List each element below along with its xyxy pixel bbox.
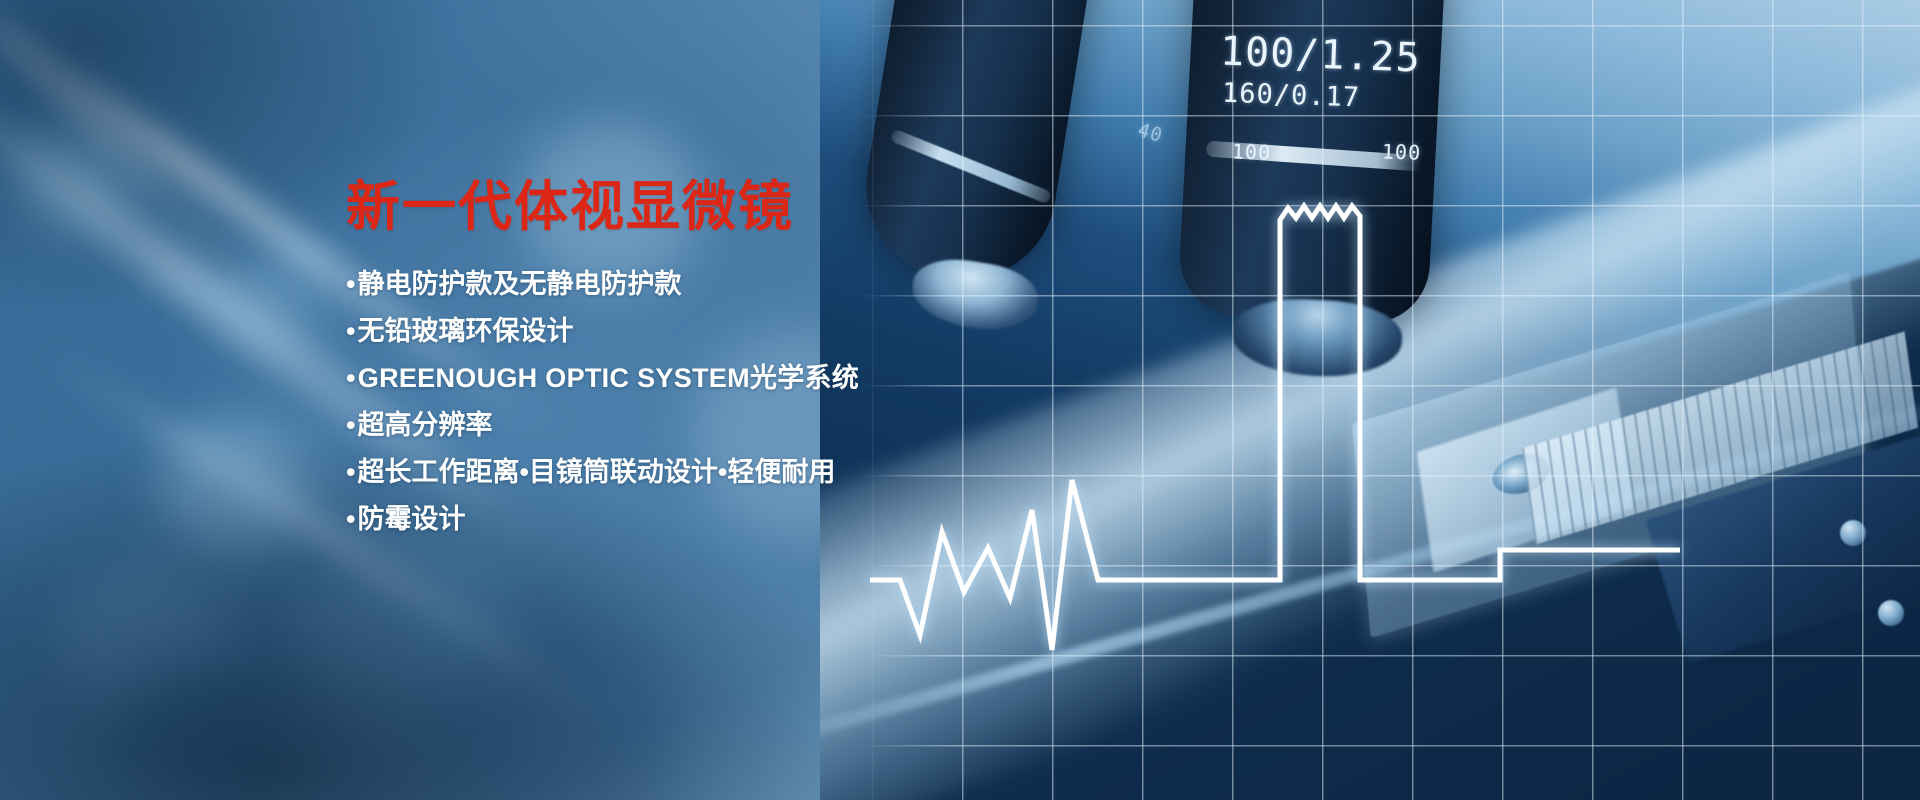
feature-list: •静电防护款及无静电防护款 •无铅玻璃环保设计 •GREENOUGH OPTIC… bbox=[346, 271, 966, 533]
ecg-pulse-trace bbox=[860, 180, 1680, 650]
list-item-label: 超长工作距离•目镜筒联动设计•轻便耐用 bbox=[357, 459, 835, 486]
list-item: •超长工作距离•目镜筒联动设计•轻便耐用 bbox=[346, 459, 966, 486]
bullet-icon: • bbox=[346, 412, 355, 439]
bullet-icon: • bbox=[346, 506, 355, 533]
list-item-label: 无铅玻璃环保设计 bbox=[357, 318, 573, 345]
copy-block: 新一代体视显微镜 •静电防护款及无静电防护款 •无铅玻璃环保设计 •GREENO… bbox=[346, 178, 966, 553]
list-item-label: 防霉设计 bbox=[357, 506, 465, 533]
bullet-icon: • bbox=[346, 365, 356, 392]
list-item: •超高分辨率 bbox=[346, 412, 966, 439]
list-item: •GREENOUGH OPTIC SYSTEM光学系统 bbox=[346, 365, 966, 392]
list-item-label: 超高分辨率 bbox=[357, 412, 492, 439]
bullet-icon: • bbox=[346, 318, 355, 345]
bullet-icon: • bbox=[346, 459, 355, 486]
hero-banner: 40 100/1.25 160/0.17 100 100 新一代体视显微镜 •静… bbox=[0, 0, 1920, 800]
list-item-label: GREENOUGH OPTIC SYSTEM光学系统 bbox=[358, 365, 859, 392]
bullet-icon: • bbox=[346, 271, 355, 298]
list-item: •无铅玻璃环保设计 bbox=[346, 318, 966, 345]
list-item: •静电防护款及无静电防护款 bbox=[346, 271, 966, 298]
list-item: •防霉设计 bbox=[346, 506, 966, 533]
list-item-label: 静电防护款及无静电防护款 bbox=[357, 271, 681, 298]
page-title: 新一代体视显微镜 bbox=[346, 178, 966, 237]
